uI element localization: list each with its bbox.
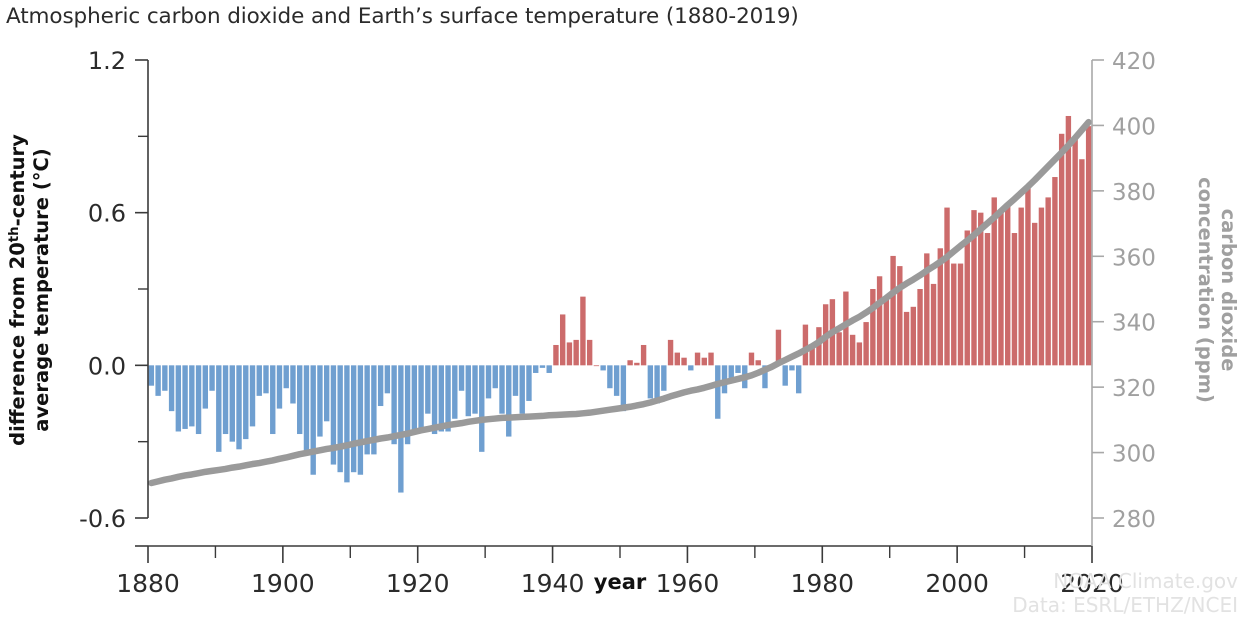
temperature-bar — [311, 365, 316, 474]
temperature-bar — [850, 335, 855, 366]
temperature-bar — [243, 365, 248, 439]
y-axis-right-tick-label: 280 — [1112, 507, 1156, 533]
temperature-bar — [911, 307, 916, 366]
chart-container: Atmospheric carbon dioxide and Earth’s s… — [0, 0, 1240, 620]
temperature-bar — [1012, 233, 1017, 365]
temperature-bar — [344, 365, 349, 482]
temperature-bar — [668, 340, 673, 365]
temperature-bar — [162, 365, 167, 390]
temperature-bar — [149, 365, 154, 385]
chart-plot: 1.20.60.0-0.6420400380360340320300280188… — [0, 0, 1240, 620]
y-left-title-line2: average temperature (°C) — [30, 148, 53, 431]
credit-line-2: Data: ESRL/ETHZ/NCEI — [1012, 593, 1238, 617]
y-axis-right-tick-label: 320 — [1112, 376, 1156, 402]
temperature-bar — [661, 365, 666, 390]
temperature-bar — [297, 365, 302, 434]
temperature-bar — [317, 365, 322, 436]
temperature-bar — [284, 365, 289, 388]
temperature-bar — [432, 365, 437, 434]
temperature-bar — [796, 365, 801, 393]
temperature-bar — [486, 365, 491, 398]
temperature-bar — [351, 365, 356, 472]
temperature-bar — [944, 208, 949, 366]
temperature-bar — [418, 365, 423, 429]
temperature-bar — [270, 365, 275, 434]
temperature-bar — [472, 365, 477, 413]
temperature-bar — [1045, 197, 1050, 365]
y-axis-left-tick-label: 0.6 — [88, 200, 126, 228]
temperature-bar — [688, 365, 693, 370]
temperature-bar — [695, 353, 700, 366]
temperature-bar — [1019, 208, 1024, 366]
temperature-bar — [263, 365, 268, 393]
y-left-title-part1b: -century — [6, 134, 29, 227]
temperature-bar — [499, 365, 504, 413]
temperature-bar — [863, 322, 868, 365]
temperature-bar — [385, 365, 390, 393]
temperature-bar — [627, 360, 632, 365]
temperature-bar — [169, 365, 174, 411]
temperature-bar — [884, 299, 889, 365]
temperature-bar — [236, 365, 241, 449]
temperature-bar — [553, 345, 558, 365]
y-axis-right-tick-label: 340 — [1112, 311, 1156, 337]
temperature-bar — [155, 365, 160, 396]
temperature-bar — [783, 365, 788, 385]
y-axis-left-tick-label: 0.0 — [88, 352, 126, 380]
y-axis-right-title: carbon dioxide concentration (ppm) — [1194, 177, 1240, 403]
temperature-bar — [1052, 177, 1057, 365]
temperature-bar — [277, 365, 282, 408]
temperature-bar — [857, 342, 862, 365]
y-axis-left-tick-label: 1.2 — [88, 47, 126, 75]
temperature-bar — [257, 365, 262, 396]
temperature-bar — [803, 325, 808, 366]
temperature-bar — [917, 289, 922, 365]
temperature-bar — [641, 345, 646, 365]
temperature-bar — [756, 360, 761, 365]
temperature-bar — [466, 365, 471, 416]
temperature-bar — [1032, 223, 1037, 365]
x-axis-tick-label: 1920 — [386, 569, 450, 598]
temperature-bar — [196, 365, 201, 434]
temperature-bar — [715, 365, 720, 418]
temperature-bar — [836, 332, 841, 365]
temperature-bar — [600, 365, 605, 370]
y-left-title-part1: difference from 20 — [6, 242, 29, 446]
temperature-bar — [230, 365, 235, 441]
y-axis-left-title: difference from 20th-century average tem… — [6, 134, 53, 446]
temperature-bar — [391, 365, 396, 444]
temperature-bar — [520, 365, 525, 413]
temperature-bar — [547, 365, 552, 373]
temperature-bar — [1079, 159, 1084, 365]
temperature-bar — [223, 365, 228, 434]
x-axis-tick-label: 1980 — [790, 569, 854, 598]
temperature-bar — [702, 358, 707, 366]
temperature-bar — [567, 342, 572, 365]
temperature-bar — [951, 264, 956, 366]
temperature-bar — [1059, 134, 1064, 366]
temperature-bar — [459, 365, 464, 390]
temperature-bar — [560, 314, 565, 365]
temperature-bar — [648, 365, 653, 398]
temperature-bar — [533, 365, 538, 373]
y-right-title-line1: carbon dioxide — [1217, 209, 1240, 372]
y-axis-left-tick-label: -0.6 — [79, 505, 126, 533]
temperature-bar — [594, 365, 599, 366]
y-left-title-sup: th — [7, 226, 22, 242]
temperature-bar — [176, 365, 181, 431]
temperature-bar — [580, 297, 585, 366]
temperature-bar — [1086, 126, 1091, 365]
temperature-bars — [149, 116, 1092, 493]
y-axis-right-tick-label: 400 — [1112, 114, 1156, 140]
y-axis-right-tick-label: 420 — [1112, 49, 1156, 75]
x-axis-tick-label: 2000 — [925, 569, 989, 598]
temperature-bar — [493, 365, 498, 388]
temperature-bar — [250, 365, 255, 426]
temperature-bar — [526, 365, 531, 401]
temperature-bar — [978, 213, 983, 366]
temperature-bar — [1072, 136, 1077, 365]
temperature-bar — [337, 365, 342, 472]
temperature-bar — [412, 365, 417, 434]
temperature-bar — [789, 365, 794, 370]
temperature-bar — [216, 365, 221, 452]
temperature-bar — [1025, 187, 1030, 365]
temperature-bar — [870, 289, 875, 365]
x-axis-tick-label: 1880 — [116, 569, 180, 598]
temperature-bar — [378, 365, 383, 406]
temperature-bar — [897, 266, 902, 365]
temperature-bar — [1005, 205, 1010, 365]
temperature-bar — [573, 340, 578, 365]
credit-block: NOAA Climate.gov Data: ESRL/ETHZ/NCEI — [1012, 569, 1238, 617]
temperature-bar — [182, 365, 187, 429]
temperature-bar — [614, 365, 619, 396]
temperature-bar — [304, 365, 309, 454]
x-axis-tick-label: 1960 — [656, 569, 720, 598]
temperature-bar — [1066, 116, 1071, 365]
svg-text:difference from 20th-century: difference from 20th-century — [6, 134, 29, 446]
temperature-bar — [607, 365, 612, 388]
x-axis-tick-label: 1900 — [251, 569, 315, 598]
temperature-bar — [634, 363, 639, 366]
y-axis-right-tick-label: 360 — [1112, 245, 1156, 271]
temperature-bar — [189, 365, 194, 426]
temperature-bar — [985, 233, 990, 365]
temperature-bar — [904, 312, 909, 365]
credit-line-1: NOAA Climate.gov — [1053, 569, 1238, 593]
temperature-bar — [708, 353, 713, 366]
temperature-bar — [452, 365, 457, 418]
temperature-bar — [890, 256, 895, 365]
temperature-bar — [425, 365, 430, 413]
temperature-bar — [998, 210, 1003, 365]
y-axis-right-tick-label: 300 — [1112, 442, 1156, 468]
temperature-bar — [958, 264, 963, 366]
temperature-bar — [358, 365, 363, 474]
temperature-bar — [749, 353, 754, 366]
temperature-bar — [931, 284, 936, 365]
temperature-bar — [675, 353, 680, 366]
y-right-title-line2: concentration (ppm) — [1194, 177, 1217, 403]
temperature-bar — [877, 276, 882, 365]
temperature-bar — [203, 365, 208, 408]
y-axis-right-tick-label: 380 — [1112, 180, 1156, 206]
temperature-bar — [506, 365, 511, 436]
temperature-bar — [965, 230, 970, 365]
temperature-bar — [290, 365, 295, 403]
temperature-bar — [681, 358, 686, 366]
temperature-bar — [439, 365, 444, 431]
temperature-bar — [479, 365, 484, 452]
temperature-bar — [513, 365, 518, 396]
temperature-bar — [398, 365, 403, 492]
temperature-bar — [735, 365, 740, 373]
temperature-bar — [587, 340, 592, 365]
temperature-bar — [209, 365, 214, 390]
temperature-bar — [324, 365, 329, 421]
temperature-bar — [540, 365, 545, 368]
temperature-bar — [1039, 208, 1044, 366]
x-axis-tick-label: 1940 — [521, 569, 585, 598]
x-axis-title: year — [594, 570, 647, 594]
